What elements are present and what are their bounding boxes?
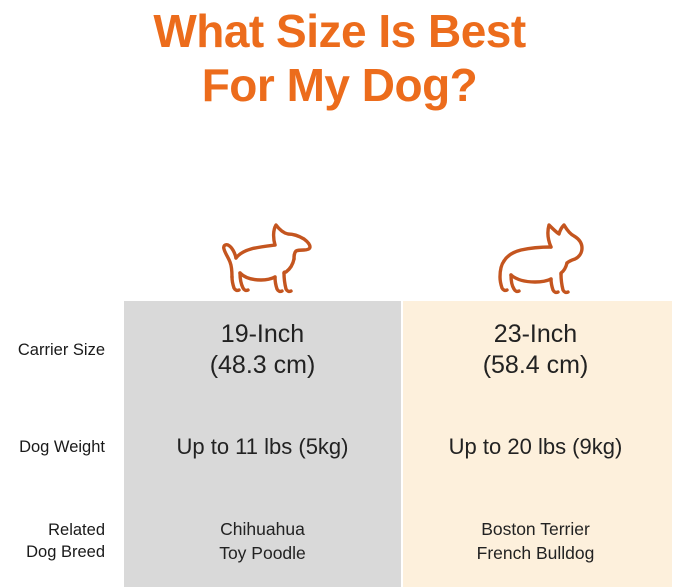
cell-line-1: 19-Inch (210, 319, 316, 350)
chihuahua-icon-cell (124, 205, 401, 301)
size-comparison-table: Carrier Size 19-Inch (48.3 cm) 23-Inch (… (0, 301, 679, 587)
cell-carrier-size-large: 23-Inch (58.4 cm) (401, 301, 670, 398)
size-guide-infographic: What Size Is Best For My Dog? (0, 0, 679, 587)
title-line-1: What Size Is Best (0, 4, 679, 58)
cell-line-1: Up to 11 lbs (5kg) (176, 433, 348, 461)
cell-line-1: 23-Inch (483, 319, 589, 350)
cell-breed-small: Chihuahua Toy Poodle (124, 495, 401, 587)
cell-dog-weight-large: Up to 20 lbs (9kg) (401, 398, 670, 495)
table-row: Carrier Size 19-Inch (48.3 cm) 23-Inch (… (0, 301, 679, 398)
row-label-carrier-size: Carrier Size (0, 301, 124, 398)
cell-line-2: (48.3 cm) (210, 350, 316, 381)
dog-icon-row (0, 205, 679, 301)
page-title: What Size Is Best For My Dog? (0, 0, 679, 130)
row-label-dog-weight: Dog Weight (0, 398, 124, 495)
row-label-related-dog-breed: Related Dog Breed (0, 495, 124, 587)
row-label-line-1: Related (26, 519, 105, 541)
cell-line-2: French Bulldog (477, 541, 595, 565)
french-bulldog-icon-cell (403, 205, 672, 301)
french-bulldog-icon (485, 209, 591, 301)
table-row: Dog Weight Up to 11 lbs (5kg) Up to 20 l… (0, 398, 679, 495)
cell-line-1: Up to 20 lbs (9kg) (449, 433, 623, 461)
cell-breed-large: Boston Terrier French Bulldog (401, 495, 670, 587)
cell-line-2: (58.4 cm) (483, 350, 589, 381)
chihuahua-dog-icon (211, 209, 315, 301)
title-line-2: For My Dog? (0, 58, 679, 112)
row-label-line-2: Dog Breed (26, 541, 105, 563)
cell-dog-weight-small: Up to 11 lbs (5kg) (124, 398, 401, 495)
cell-line-2: Toy Poodle (219, 541, 306, 565)
cell-carrier-size-small: 19-Inch (48.3 cm) (124, 301, 401, 398)
table-row: Related Dog Breed Chihuahua Toy Poodle B… (0, 495, 679, 587)
row-label-text: Carrier Size (18, 339, 105, 361)
row-label-text: Dog Weight (19, 436, 105, 458)
cell-line-1: Chihuahua (219, 517, 306, 541)
cell-line-1: Boston Terrier (477, 517, 595, 541)
